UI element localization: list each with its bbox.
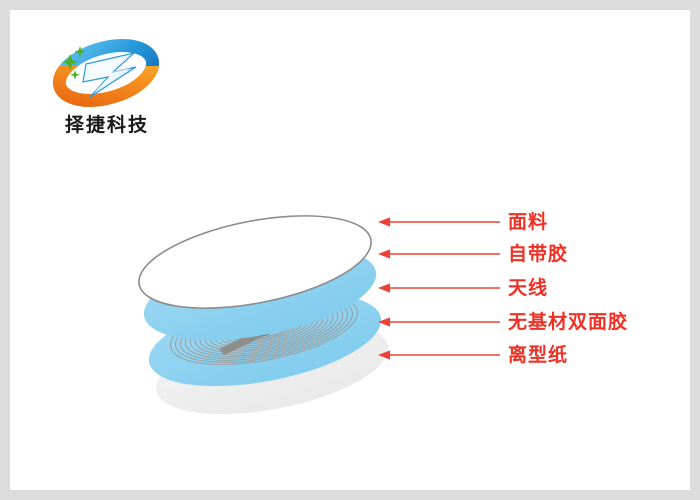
brand-logo: 择捷科技 [42, 36, 172, 146]
brand-name: 择捷科技 [42, 110, 172, 137]
callout-label-double-sided-tape: 无基材双面胶 [508, 310, 628, 334]
callout-label-antenna: 天线 [508, 276, 548, 300]
arrow-left-icon [376, 242, 504, 266]
arrow-left-icon [376, 310, 504, 334]
z-swoosh-logo-icon [50, 36, 162, 110]
callout-label-fabric: 面料 [508, 210, 548, 234]
rfid-layer-diagram [120, 190, 420, 420]
page-canvas: 择捷科技 [10, 10, 690, 490]
arrow-left-icon [376, 343, 504, 367]
callout-label-release-paper: 离型纸 [508, 343, 568, 367]
callout-label-self-adhesive: 自带胶 [508, 242, 568, 266]
arrow-left-icon [376, 276, 504, 300]
arrow-left-icon [376, 210, 504, 234]
